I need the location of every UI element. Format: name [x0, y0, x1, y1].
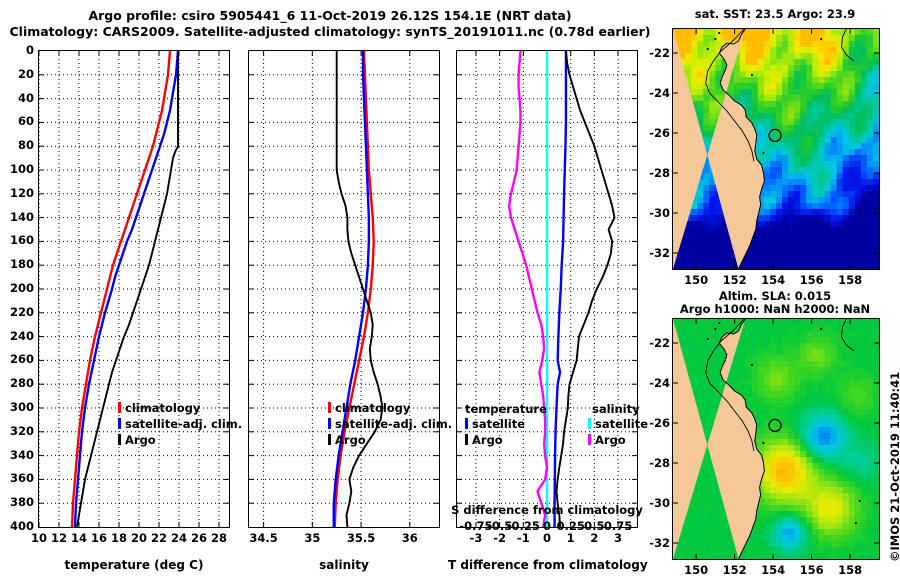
temperature-plot	[39, 51, 229, 527]
axis-tick-label: 360	[0, 471, 34, 485]
axis-tick-label: 152	[715, 563, 755, 577]
island-marker	[859, 210, 861, 212]
axis-tick-label: 36	[388, 531, 432, 545]
axis-tick-label: 156	[792, 273, 832, 287]
legend-swatch	[588, 418, 591, 429]
legend-label: satellite	[472, 417, 525, 431]
axis-tick-label: 34.5	[242, 531, 286, 545]
axis-tick-label: 160	[0, 233, 34, 247]
salinity-axis-label: salinity	[248, 558, 440, 572]
title-line-1: Argo profile: csiro 5905441_6 11-Oct-201…	[0, 8, 660, 24]
axis-tick-label: 180	[0, 257, 34, 271]
island-marker	[751, 364, 753, 366]
axis-tick-label: -26	[639, 126, 670, 140]
legend-swatch	[328, 418, 331, 429]
legend-swatch	[588, 434, 591, 445]
copyright-credit: ©IMOS 21-Oct-2019 11:40:41	[888, 372, 900, 562]
axis-tick-label: 28	[197, 531, 241, 545]
axis-tick-label: 380	[0, 495, 34, 509]
difference-panel	[456, 50, 638, 528]
legend-label: Argo	[335, 433, 366, 447]
axis-tick-label: 300	[0, 400, 34, 414]
difference-plot	[457, 51, 637, 527]
legend-group-title: salinity	[592, 402, 640, 416]
axis-tick-label: 40	[0, 91, 34, 105]
island-marker	[718, 322, 720, 324]
island-marker	[762, 152, 764, 154]
sst-map-panel	[672, 28, 880, 270]
island-marker	[855, 522, 857, 524]
axis-tick-label: 150	[676, 563, 716, 577]
legend-swatch	[328, 402, 331, 413]
legend-group-title: temperature	[465, 402, 547, 416]
island-marker	[714, 38, 716, 40]
legend-swatch	[328, 434, 331, 445]
island-marker	[707, 338, 709, 340]
axis-tick-label: 150	[676, 273, 716, 287]
axis-tick-label: -22	[639, 46, 670, 60]
sst-map-title-line: sat. SST: 23.5 Argo: 23.9	[655, 8, 895, 21]
legend-label: climatology	[125, 401, 200, 415]
legend-swatch	[465, 418, 468, 429]
legend-swatch	[118, 418, 121, 429]
sla-map	[673, 319, 879, 559]
page-title: Argo profile: csiro 5905441_6 11-Oct-201…	[0, 8, 660, 40]
island-marker	[751, 74, 753, 76]
temperature-panel	[38, 50, 230, 528]
salinity-plot	[249, 51, 439, 527]
island-marker	[820, 328, 822, 330]
axis-tick-label: 200	[0, 281, 34, 295]
island-marker	[762, 442, 764, 444]
island-marker	[859, 500, 861, 502]
legend-swatch	[465, 434, 468, 445]
axis-tick-label: 158	[830, 563, 870, 577]
legend-label: Argo	[595, 433, 626, 447]
difference-secondary-axis-label: S difference from climatology	[448, 503, 646, 517]
island-marker	[707, 48, 709, 50]
axis-tick-label: -28	[639, 166, 670, 180]
legend-label: satellite-adj. clim.	[125, 417, 242, 431]
legend-swatch	[118, 402, 121, 413]
axis-tick-label: 140	[0, 210, 34, 224]
legend-label: Argo	[125, 433, 156, 447]
island-marker	[820, 38, 822, 40]
island-marker	[855, 232, 857, 234]
sla-map-title-line-2: Argo h1000: NaN h2000: NaN	[655, 303, 895, 316]
axis-tick-label: 156	[792, 563, 832, 577]
axis-tick-label: -22	[639, 336, 670, 350]
axis-tick-label: -24	[639, 376, 670, 390]
temperature-axis-label: temperature (deg C)	[38, 558, 230, 572]
island-marker	[714, 328, 716, 330]
title-line-2: Climatology: CARS2009. Satellite-adjuste…	[0, 24, 660, 40]
axis-tick-label: -26	[639, 416, 670, 430]
axis-tick-label: 220	[0, 305, 34, 319]
axis-tick-label: 240	[0, 329, 34, 343]
legend-label: climatology	[335, 401, 410, 415]
axis-tick-label: -28	[639, 456, 670, 470]
axis-tick-label: 152	[715, 273, 755, 287]
axis-tick-label: 154	[753, 563, 793, 577]
sla-map-title: Altim. SLA: 0.015 Argo h1000: NaN h2000:…	[655, 290, 895, 316]
legend-label: satellite-adj. clim.	[335, 417, 452, 431]
sst-map-title: sat. SST: 23.5 Argo: 23.9	[655, 8, 895, 21]
axis-tick-label: 260	[0, 352, 34, 366]
axis-tick-label: -30	[639, 496, 670, 510]
axis-tick-label: -32	[639, 536, 670, 550]
axis-tick-label: 80	[0, 138, 34, 152]
axis-tick-label: 35.5	[339, 531, 383, 545]
axis-tick-label: 280	[0, 376, 34, 390]
axis-tick-label: 35	[290, 531, 334, 545]
sla-map-panel	[672, 318, 880, 560]
axis-tick-label: 154	[753, 273, 793, 287]
sst-map	[673, 29, 879, 269]
difference-axis-label: T difference from climatology	[448, 558, 646, 572]
axis-tick-label: -32	[639, 246, 670, 260]
axis-tick-label: 120	[0, 186, 34, 200]
axis-tick-label: 20	[0, 67, 34, 81]
axis-tick-label: 60	[0, 114, 34, 128]
legend-label: Argo	[472, 433, 503, 447]
legend-swatch	[118, 434, 121, 445]
axis-tick-label: 320	[0, 424, 34, 438]
axis-tick-label: 0.75	[598, 519, 638, 533]
axis-tick-label: 0	[0, 43, 34, 57]
axis-tick-label: 100	[0, 162, 34, 176]
axis-tick-label: 3	[598, 531, 638, 545]
axis-tick-label: -30	[639, 206, 670, 220]
island-marker	[718, 32, 720, 34]
salinity-panel	[248, 50, 440, 528]
axis-tick-label: 158	[830, 273, 870, 287]
axis-tick-label: -24	[639, 86, 670, 100]
axis-tick-label: 340	[0, 448, 34, 462]
